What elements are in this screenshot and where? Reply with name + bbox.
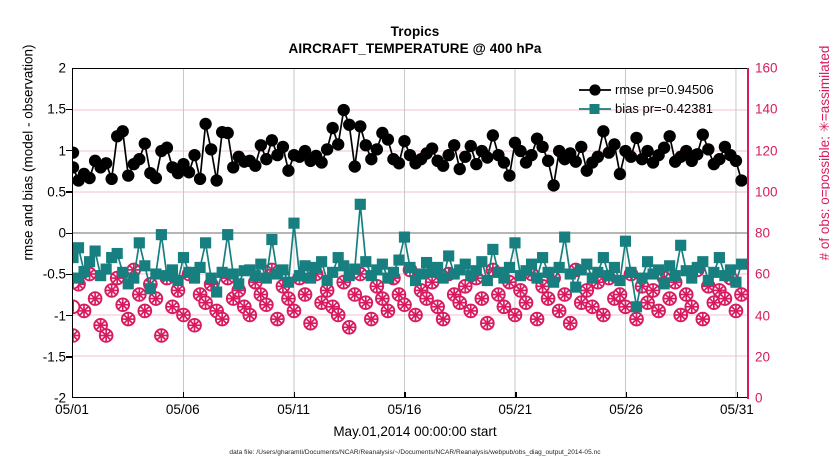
marker-rmse xyxy=(630,132,642,144)
chart-legend: rmse pr=0.94506bias pr=-0.42381 xyxy=(578,80,750,118)
obs-marker xyxy=(271,313,284,326)
marker-rmse xyxy=(122,169,134,181)
marker-bias xyxy=(443,250,454,261)
obs-marker xyxy=(520,296,533,309)
marker-bias xyxy=(316,256,327,267)
marker-bias xyxy=(714,252,725,263)
obs-marker xyxy=(370,280,383,293)
obs-marker xyxy=(398,298,411,311)
legend-label-bias: bias pr=-0.42381 xyxy=(615,101,713,116)
marker-bias xyxy=(84,256,95,267)
marker-bias xyxy=(294,270,305,281)
marker-rmse xyxy=(525,149,537,161)
obs-marker xyxy=(509,309,522,322)
marker-bias xyxy=(609,262,620,273)
y-axis-left-label: rmse and bias (model - observation) xyxy=(21,0,36,318)
marker-rmse xyxy=(150,172,162,184)
marker-bias xyxy=(498,273,509,284)
y-tick-right: 80 xyxy=(755,226,801,241)
obs-marker xyxy=(674,309,687,322)
marker-rmse xyxy=(547,179,559,191)
marker-bias xyxy=(415,268,426,279)
marker-rmse xyxy=(393,157,405,169)
obs-marker xyxy=(630,313,643,326)
marker-bias xyxy=(421,257,432,268)
marker-bias xyxy=(708,267,719,278)
x-tick-mark xyxy=(294,392,295,398)
marker-bias xyxy=(128,273,139,284)
x-tick-mark xyxy=(404,392,405,398)
marker-bias xyxy=(659,278,670,289)
marker-rmse xyxy=(139,137,151,149)
obs-marker xyxy=(647,284,660,297)
obs-marker xyxy=(116,298,129,311)
marker-rmse xyxy=(371,143,383,155)
legend-label-rmse: rmse pr=0.94506 xyxy=(615,82,714,97)
marker-bias xyxy=(476,256,487,267)
y-tick-right: 120 xyxy=(755,143,801,158)
marker-bias xyxy=(200,237,211,248)
obs-marker xyxy=(343,321,356,334)
marker-rmse xyxy=(161,142,173,154)
marker-rmse xyxy=(592,151,604,163)
marker-bias xyxy=(620,236,631,247)
x-tick: 05/31 xyxy=(702,402,772,417)
marker-rmse xyxy=(205,143,217,155)
x-tick: 05/16 xyxy=(369,402,439,417)
marker-rmse xyxy=(459,151,471,163)
x-tick-mark xyxy=(626,392,627,398)
y-tick-left: 1 xyxy=(6,143,66,158)
obs-marker xyxy=(376,292,389,305)
x-tick-mark xyxy=(515,392,516,398)
marker-bias xyxy=(266,234,277,245)
marker-bias xyxy=(150,268,161,279)
y-tick-right: 140 xyxy=(755,102,801,117)
obs-marker xyxy=(730,305,743,318)
marker-rmse xyxy=(73,161,79,173)
marker-rmse xyxy=(227,161,239,173)
marker-bias xyxy=(377,259,388,270)
marker-rmse xyxy=(349,160,361,172)
marker-bias xyxy=(460,259,471,270)
marker-bias xyxy=(211,286,222,297)
marker-rmse xyxy=(282,165,294,177)
marker-bias xyxy=(438,273,449,284)
marker-rmse xyxy=(481,151,493,163)
obs-marker xyxy=(564,317,577,330)
marker-bias xyxy=(288,218,299,229)
marker-rmse xyxy=(597,125,609,137)
obs-marker xyxy=(199,296,212,309)
obs-marker xyxy=(498,300,511,313)
obs-marker xyxy=(459,280,472,293)
marker-rmse xyxy=(222,127,234,139)
marker-rmse xyxy=(183,166,195,178)
marker-bias xyxy=(581,259,592,270)
obs-marker xyxy=(531,313,544,326)
marker-bias xyxy=(664,260,675,271)
marker-bias xyxy=(167,264,178,275)
marker-rmse xyxy=(735,174,747,186)
y-tick-right: 100 xyxy=(755,184,801,199)
marker-rmse xyxy=(426,142,438,154)
y-tick-mark xyxy=(66,274,72,275)
marker-bias xyxy=(156,229,167,240)
obs-marker xyxy=(243,309,256,322)
y-tick-mark xyxy=(66,109,72,110)
y-tick-mark xyxy=(66,356,72,357)
marker-bias xyxy=(393,254,404,265)
marker-bias xyxy=(250,270,261,281)
marker-bias xyxy=(404,262,415,273)
obs-marker xyxy=(586,300,599,313)
obs-marker xyxy=(641,296,654,309)
marker-bias xyxy=(73,273,84,284)
marker-bias xyxy=(675,240,686,251)
obs-marker xyxy=(663,292,676,305)
obs-marker xyxy=(216,313,229,326)
marker-bias xyxy=(277,264,288,275)
marker-bias xyxy=(548,277,559,288)
marker-bias xyxy=(559,232,570,243)
marker-bias xyxy=(388,267,399,278)
marker-rmse xyxy=(730,155,742,167)
marker-rmse xyxy=(260,153,272,165)
x-tick-mark xyxy=(737,392,738,398)
obs-marker xyxy=(382,305,395,318)
obs-marker xyxy=(365,313,378,326)
marker-bias xyxy=(592,267,603,278)
marker-bias xyxy=(487,244,498,255)
y-tick-left: 0.5 xyxy=(6,184,66,199)
y-tick-left: -1.5 xyxy=(6,349,66,364)
y-tick-left: 0 xyxy=(6,226,66,241)
y-tick-mark xyxy=(66,233,72,234)
obs-marker xyxy=(680,288,693,301)
marker-rmse xyxy=(332,138,344,150)
chart-title: Tropics xyxy=(0,24,830,39)
marker-rmse xyxy=(536,141,548,153)
obs-marker xyxy=(619,300,632,313)
marker-rmse xyxy=(73,146,79,158)
marker-rmse xyxy=(448,139,460,151)
obs-marker xyxy=(514,284,527,297)
y-tick-right: 60 xyxy=(755,267,801,282)
y-tick-mark xyxy=(66,315,72,316)
marker-rmse xyxy=(321,143,333,155)
marker-rmse xyxy=(326,122,338,134)
marker-rmse xyxy=(105,173,117,185)
marker-rmse xyxy=(498,156,510,168)
obs-marker xyxy=(553,305,566,318)
x-axis-label: May.01,2014 00:00:00 start xyxy=(0,424,830,439)
legend-swatch-rmse xyxy=(578,82,612,98)
marker-bias xyxy=(526,259,537,270)
marker-rmse xyxy=(697,128,709,140)
y-tick-right: 20 xyxy=(755,349,801,364)
obs-marker xyxy=(89,292,102,305)
marker-bias xyxy=(90,245,101,256)
marker-bias xyxy=(736,259,747,270)
x-tick: 05/01 xyxy=(37,402,107,417)
y-tick-left: -0.5 xyxy=(6,267,66,282)
marker-rmse xyxy=(100,157,112,169)
y-tick-left: 2 xyxy=(6,61,66,76)
y-tick-left: 1.5 xyxy=(6,102,66,117)
marker-bias xyxy=(228,268,239,279)
marker-bias xyxy=(631,301,642,312)
marker-rmse xyxy=(503,169,515,181)
obs-marker xyxy=(73,300,79,313)
obs-marker xyxy=(685,300,698,313)
marker-bias xyxy=(217,267,228,278)
marker-bias xyxy=(101,264,112,275)
marker-bias xyxy=(543,267,554,278)
marker-rmse xyxy=(343,119,355,131)
marker-rmse xyxy=(133,153,145,165)
marker-rmse xyxy=(354,120,366,132)
marker-bias xyxy=(117,267,128,278)
data-file-footer: data file: /Users/gharamti/Documents/NCA… xyxy=(0,449,830,456)
marker-rmse xyxy=(188,149,200,161)
marker-rmse xyxy=(277,141,289,153)
marker-rmse xyxy=(338,104,350,116)
obs-marker xyxy=(100,329,113,342)
marker-bias xyxy=(139,260,150,271)
marker-rmse xyxy=(713,153,725,165)
marker-bias xyxy=(482,275,493,286)
y-tick-mark xyxy=(66,191,72,192)
marker-bias xyxy=(338,260,349,271)
obs-marker xyxy=(166,300,179,313)
marker-rmse xyxy=(360,139,372,151)
marker-rmse xyxy=(454,163,466,175)
obs-marker xyxy=(304,317,317,330)
obs-marker xyxy=(332,309,345,322)
marker-bias xyxy=(725,264,736,275)
marker-rmse xyxy=(658,142,670,154)
obs-marker xyxy=(431,300,444,313)
obs-marker xyxy=(282,292,295,305)
chart-canvas xyxy=(73,69,747,397)
marker-rmse xyxy=(210,174,222,186)
x-tick: 05/21 xyxy=(480,402,550,417)
marker-bias xyxy=(112,248,123,259)
obs-marker xyxy=(558,288,571,301)
chart-subtitle: AIRCRAFT_TEMPERATURE @ 400 hPa xyxy=(0,41,830,56)
marker-bias xyxy=(636,273,647,284)
marker-bias xyxy=(73,242,84,253)
marker-bias xyxy=(134,237,145,248)
obs-marker xyxy=(735,288,747,301)
obs-marker xyxy=(453,296,466,309)
marker-rmse xyxy=(470,158,482,170)
x-tick: 05/26 xyxy=(591,402,661,417)
marker-bias xyxy=(697,256,708,267)
marker-bias xyxy=(686,273,697,284)
obs-marker xyxy=(188,319,201,332)
obs-marker xyxy=(299,288,312,301)
marker-bias xyxy=(570,282,581,293)
marker-bias xyxy=(305,273,316,284)
marker-bias xyxy=(653,264,664,275)
marker-bias xyxy=(355,199,366,210)
marker-bias xyxy=(730,277,741,288)
marker-bias xyxy=(504,262,515,273)
marker-rmse xyxy=(614,168,626,180)
obs-marker xyxy=(138,305,151,318)
marker-bias xyxy=(360,256,371,267)
marker-bias xyxy=(189,273,200,284)
obs-marker xyxy=(133,288,146,301)
marker-bias xyxy=(642,256,653,267)
marker-bias xyxy=(509,237,520,248)
marker-rmse xyxy=(465,140,477,152)
obs-marker xyxy=(420,292,433,305)
obs-marker xyxy=(492,288,505,301)
marker-rmse xyxy=(382,133,394,145)
marker-rmse xyxy=(315,156,327,168)
obs-marker xyxy=(105,284,118,297)
marker-rmse xyxy=(575,141,587,153)
obs-marker xyxy=(475,292,488,305)
marker-rmse xyxy=(691,148,703,160)
obs-marker xyxy=(580,284,593,297)
marker-bias xyxy=(565,268,576,279)
obs-marker xyxy=(260,298,273,311)
marker-rmse xyxy=(437,160,449,172)
marker-bias xyxy=(261,273,272,284)
obs-marker xyxy=(464,305,477,318)
x-tick: 05/11 xyxy=(259,402,329,417)
marker-rmse xyxy=(542,155,554,167)
marker-rmse xyxy=(199,118,211,130)
marker-bias xyxy=(172,275,183,286)
marker-bias xyxy=(432,262,443,273)
marker-rmse xyxy=(663,130,675,142)
marker-bias xyxy=(554,262,565,273)
marker-rmse xyxy=(514,145,526,157)
marker-bias xyxy=(531,273,542,284)
y-tick-mark xyxy=(66,150,72,151)
y-axis-right-label: # of obs: o=possible; ✳=assimilated xyxy=(817,0,830,318)
obs-marker xyxy=(288,305,301,318)
marker-bias xyxy=(625,267,636,278)
marker-bias xyxy=(222,229,233,240)
marker-bias xyxy=(399,232,410,243)
y-tick-right: 40 xyxy=(755,308,801,323)
marker-bias xyxy=(537,252,548,263)
legend-item-bias[interactable]: bias pr=-0.42381 xyxy=(578,99,750,118)
obs-marker xyxy=(155,329,168,342)
x-tick-mark xyxy=(183,392,184,398)
obs-marker xyxy=(481,317,494,330)
x-tick-mark xyxy=(72,392,73,398)
marker-rmse xyxy=(255,139,267,151)
marker-rmse xyxy=(608,138,620,150)
legend-item-rmse[interactable]: rmse pr=0.94506 xyxy=(578,80,750,99)
marker-rmse xyxy=(117,125,129,137)
marker-bias xyxy=(299,260,310,271)
x-tick: 05/06 xyxy=(148,402,218,417)
obs-marker xyxy=(696,313,709,326)
marker-rmse xyxy=(570,155,582,167)
obs-marker xyxy=(409,309,422,322)
marker-bias xyxy=(349,264,360,275)
obs-marker xyxy=(177,309,190,322)
marker-bias xyxy=(327,267,338,278)
marker-rmse xyxy=(194,173,206,185)
obs-marker xyxy=(719,292,732,305)
obs-marker xyxy=(348,288,361,301)
y-tick-left: -1 xyxy=(6,308,66,323)
marker-bias xyxy=(283,277,294,288)
obs-marker xyxy=(542,292,555,305)
obs-marker xyxy=(73,329,79,342)
marker-bias xyxy=(145,283,156,294)
marker-rmse xyxy=(487,129,499,141)
marker-rmse xyxy=(641,145,653,157)
marker-bias xyxy=(255,259,266,270)
marker-bias xyxy=(194,262,205,273)
marker-rmse xyxy=(398,135,410,147)
marker-bias xyxy=(206,273,217,284)
obs-marker xyxy=(359,296,372,309)
marker-bias xyxy=(598,252,609,263)
obs-marker xyxy=(614,288,627,301)
marker-rmse xyxy=(83,172,95,184)
marker-bias xyxy=(670,270,681,281)
obs-marker xyxy=(122,313,135,326)
y-tick-right: 160 xyxy=(755,61,801,76)
marker-rmse xyxy=(702,143,714,155)
marker-rmse xyxy=(266,134,278,146)
obs-marker xyxy=(597,309,610,322)
chart-page: Tropics AIRCRAFT_TEMPERATURE @ 400 hPa 2… xyxy=(0,0,830,470)
y-axis-right-ticks: 160140120100806040200 xyxy=(755,68,803,398)
marker-bias xyxy=(178,252,189,263)
marker-rmse xyxy=(249,160,261,172)
marker-bias xyxy=(233,278,244,289)
marker-bias xyxy=(614,275,625,286)
obs-marker xyxy=(652,305,665,318)
legend-swatch-bias xyxy=(578,101,612,117)
marker-bias xyxy=(73,252,79,263)
marker-rmse xyxy=(625,151,637,163)
obs-marker xyxy=(437,313,450,326)
